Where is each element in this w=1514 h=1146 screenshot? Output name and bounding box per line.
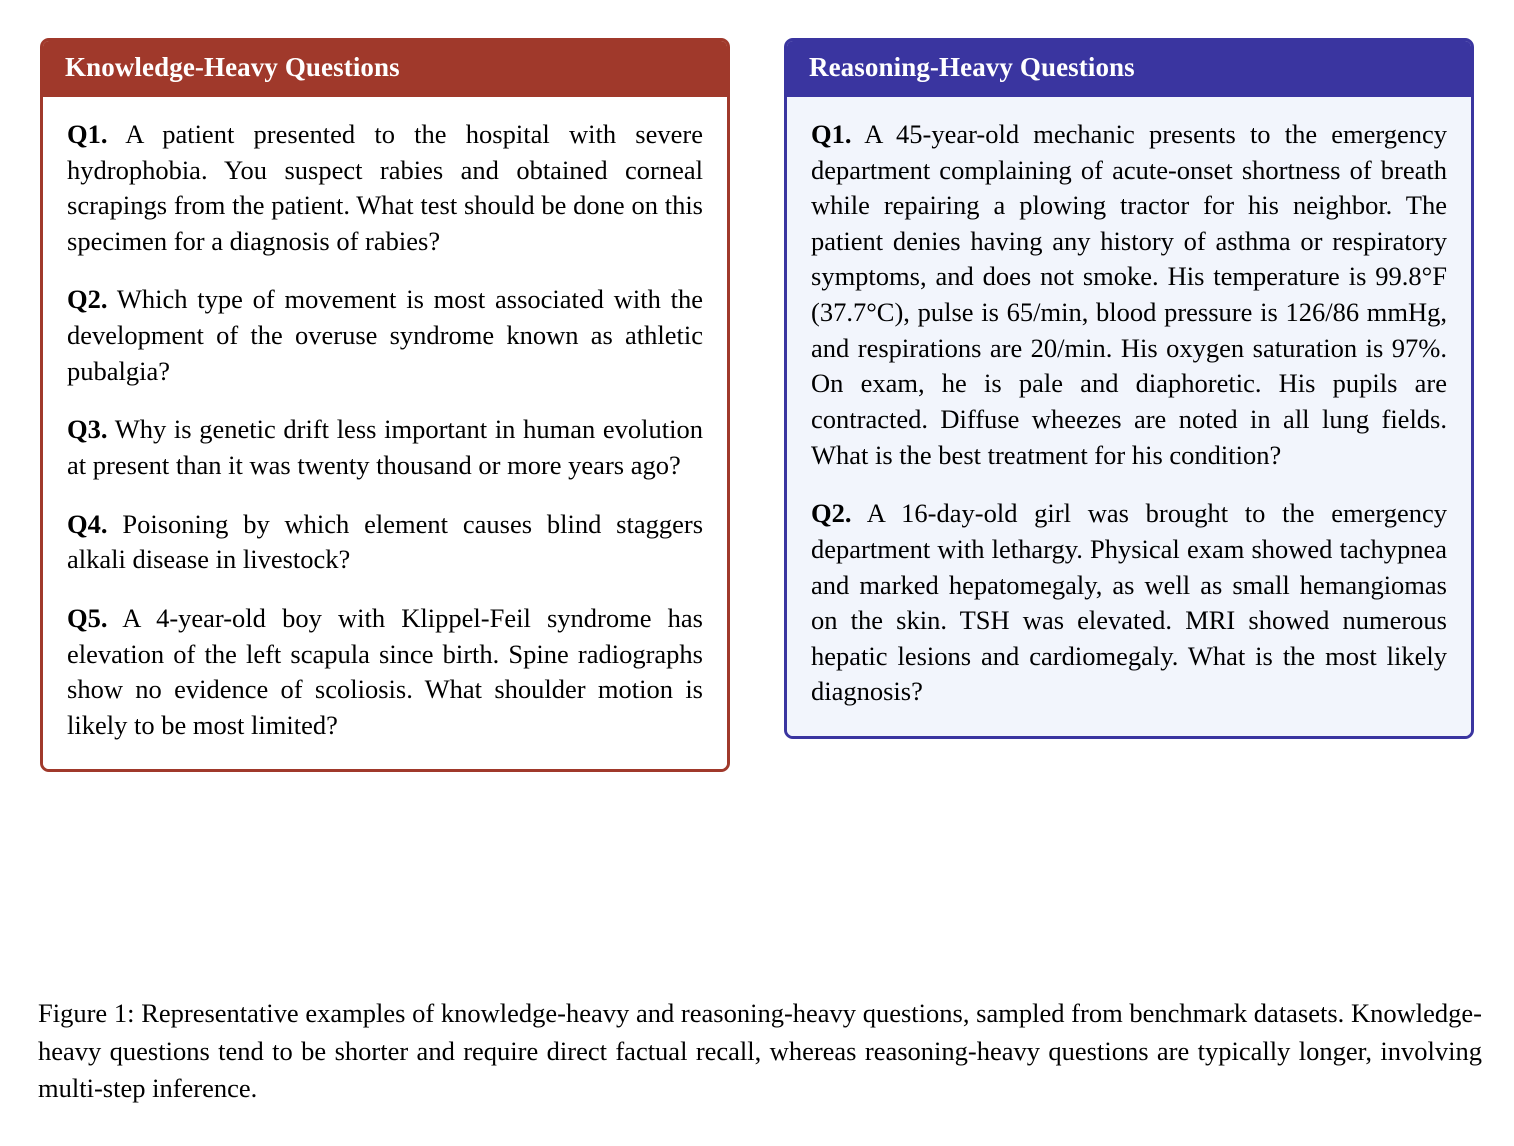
question-text: A 16-day-old girl was brought to the eme… [811, 498, 1447, 706]
question-label: Q4. [67, 509, 108, 539]
reasoning-heavy-question-list: Q1. A 45-year-old mechanic presents to t… [787, 97, 1471, 736]
question-label: Q2. [67, 284, 108, 314]
list-item: Q5. A 4-year-old boy with Klippel-Feil s… [67, 601, 703, 744]
figure-container: Knowledge-Heavy Questions Q1. A patient … [0, 0, 1514, 1146]
list-item: Q1. A patient presented to the hospital … [67, 117, 703, 260]
knowledge-heavy-panel-title: Knowledge-Heavy Questions [43, 41, 727, 97]
list-item: Q3. Why is genetic drift less important … [67, 412, 703, 483]
question-label: Q1. [67, 119, 108, 149]
question-label: Q5. [67, 603, 108, 633]
question-label: Q2. [811, 498, 852, 528]
reasoning-heavy-panel-title: Reasoning-Heavy Questions [787, 41, 1471, 97]
question-text: A patient presented to the hospital with… [67, 119, 703, 256]
question-text: A 4-year-old boy with Klippel-Feil syndr… [67, 603, 703, 740]
list-item: Q2. Which type of movement is most assoc… [67, 282, 703, 389]
knowledge-heavy-panel: Knowledge-Heavy Questions Q1. A patient … [40, 38, 730, 772]
list-item: Q2. A 16-day-old girl was brought to the… [811, 496, 1447, 710]
panels-row: Knowledge-Heavy Questions Q1. A patient … [40, 38, 1474, 772]
reasoning-heavy-panel: Reasoning-Heavy Questions Q1. A 45-year-… [784, 38, 1474, 739]
question-text: Poisoning by which element causes blind … [67, 509, 703, 575]
question-label: Q3. [67, 414, 108, 444]
figure-caption: Figure 1: Representative examples of kno… [38, 995, 1482, 1108]
list-item: Q4. Poisoning by which element causes bl… [67, 507, 703, 578]
question-text: Why is genetic drift less important in h… [67, 414, 703, 480]
question-text: A 45-year-old mechanic presents to the e… [811, 119, 1447, 470]
list-item: Q1. A 45-year-old mechanic presents to t… [811, 117, 1447, 473]
question-text: Which type of movement is most associate… [67, 284, 703, 385]
question-label: Q1. [811, 119, 852, 149]
knowledge-heavy-question-list: Q1. A patient presented to the hospital … [43, 97, 727, 770]
